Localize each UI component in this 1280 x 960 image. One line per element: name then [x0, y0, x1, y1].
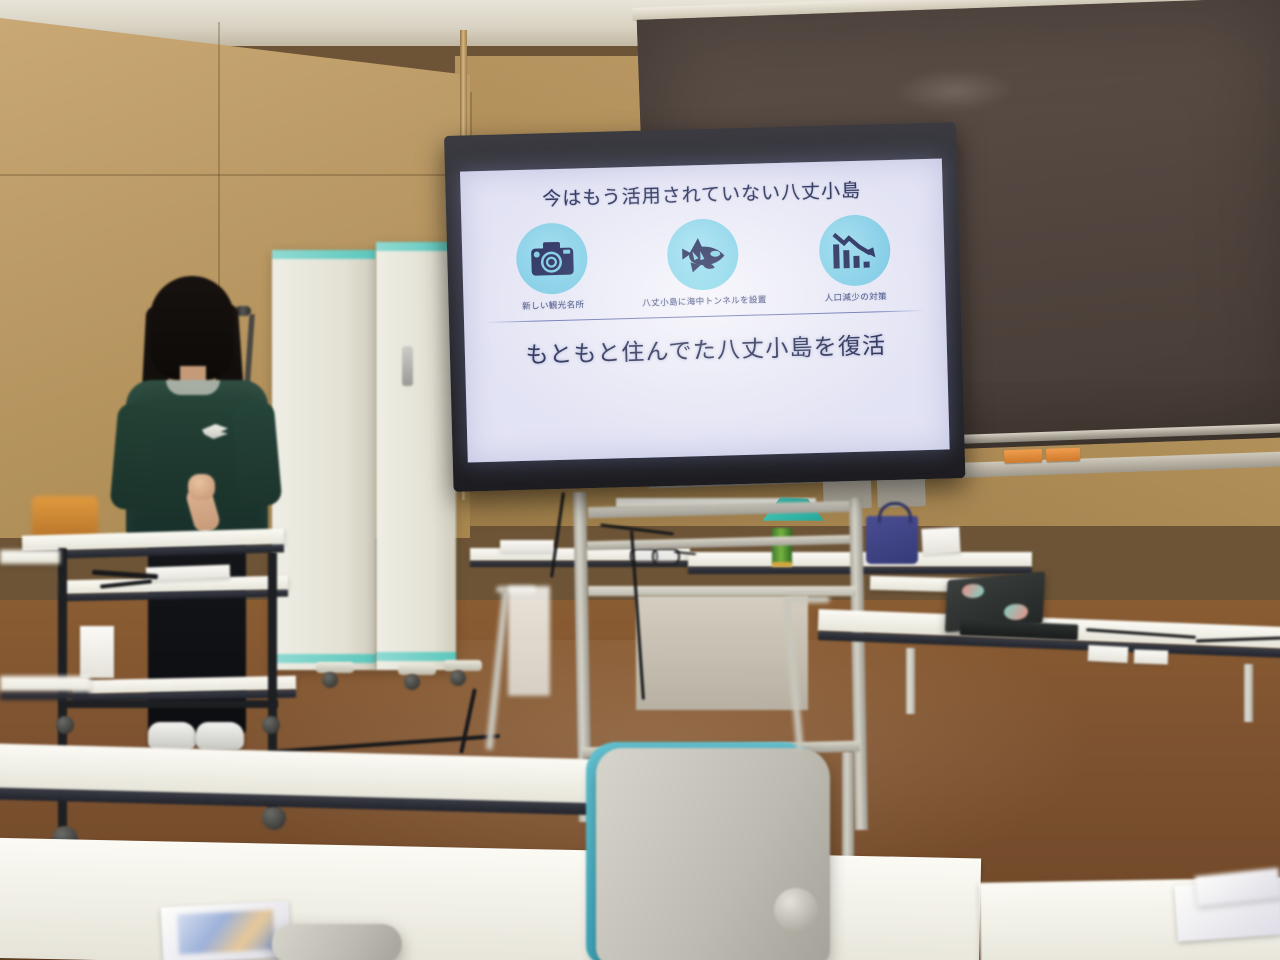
presenter-collar — [166, 380, 220, 395]
lectern-caster — [262, 806, 286, 830]
desk-foreground-main — [0, 838, 981, 960]
partition-accent — [376, 242, 456, 251]
partition-handle[interactable] — [402, 346, 413, 386]
papers-on-desk — [500, 540, 554, 552]
slide-caption-2: 八丈小島に海中トンネルを設置 — [629, 293, 779, 309]
lectern-caster — [262, 716, 280, 734]
partition-caster — [404, 674, 420, 690]
slide-column-3: 人口減少の対策 — [779, 213, 931, 305]
power-strip — [80, 626, 114, 678]
chalk-smudge — [894, 67, 1015, 115]
cart-back-panel — [636, 596, 808, 710]
camera-icon — [516, 222, 589, 295]
desk-edge — [0, 692, 90, 700]
declining-chart-icon — [818, 214, 891, 287]
chalk-box — [1046, 448, 1080, 462]
desk-far-left-2 — [0, 676, 90, 692]
room-partition-right — [376, 242, 456, 670]
partition-foot — [444, 660, 482, 671]
presenter-shoe-right — [196, 722, 244, 750]
presentation-display: 今はもう活用されていない八丈小島 — [444, 122, 965, 492]
slide-caption-3: 人口減少の対策 — [781, 289, 931, 305]
slide-column-1: 新しい観光名所 — [476, 221, 628, 313]
papers-on-right-desk — [1088, 645, 1129, 663]
slide-icon-row: 新しい観光名所 — [475, 213, 931, 313]
handout-image — [177, 910, 275, 955]
slide-footer-text: もともと住んでた八丈小島を復活 — [478, 325, 933, 371]
partition-caster — [322, 672, 338, 688]
partition-accent — [376, 652, 456, 661]
classroom-photo: 今はもう活用されていない八丈小島 — [0, 0, 1280, 960]
partition-foot — [398, 664, 436, 675]
blue-tote-bag — [866, 516, 918, 564]
lectern-frame — [60, 700, 278, 708]
partition-caster — [450, 670, 466, 686]
chair-frame — [786, 596, 830, 603]
fish-icon — [667, 218, 740, 291]
lectern-caster — [56, 716, 74, 734]
partition-accent — [272, 250, 376, 259]
wall-seam — [0, 174, 462, 176]
cart-leg — [842, 752, 854, 862]
desk-leg — [906, 648, 915, 714]
papers-on-lectern — [146, 565, 230, 582]
papers-on-desk — [921, 527, 960, 555]
desk-leg — [1244, 664, 1253, 722]
bag-on-chair — [508, 586, 550, 696]
slide: 今はもう活用されていない八丈小島 — [460, 159, 950, 463]
tv-screen: 今はもう活用されていない八丈小島 — [460, 159, 950, 463]
green-can-base — [772, 562, 792, 567]
cart-mid-bar — [586, 535, 858, 551]
chalk-box — [1004, 449, 1042, 463]
green-can — [772, 528, 792, 564]
desk-far-left — [0, 550, 60, 564]
chair-adjust-knob[interactable] — [774, 888, 818, 932]
presenter-sleeve — [232, 400, 283, 507]
chair-armrest[interactable] — [272, 924, 402, 960]
slide-title: 今はもう活用されていない八丈小島 — [474, 174, 929, 213]
presenter-hand — [188, 474, 215, 500]
presenter-hair — [150, 276, 234, 380]
presenter-shoe-left — [148, 722, 196, 750]
slide-column-2: 八丈小島に海中トンネルを設置 — [627, 217, 779, 309]
cart-shelf-panel — [588, 586, 856, 596]
slide-caption-1: 新しい観光名所 — [478, 297, 628, 313]
orange-chair-back[interactable] — [32, 496, 98, 538]
slide-divider — [484, 310, 926, 323]
papers-on-right-desk — [1134, 649, 1168, 664]
partition-foot — [316, 662, 354, 673]
